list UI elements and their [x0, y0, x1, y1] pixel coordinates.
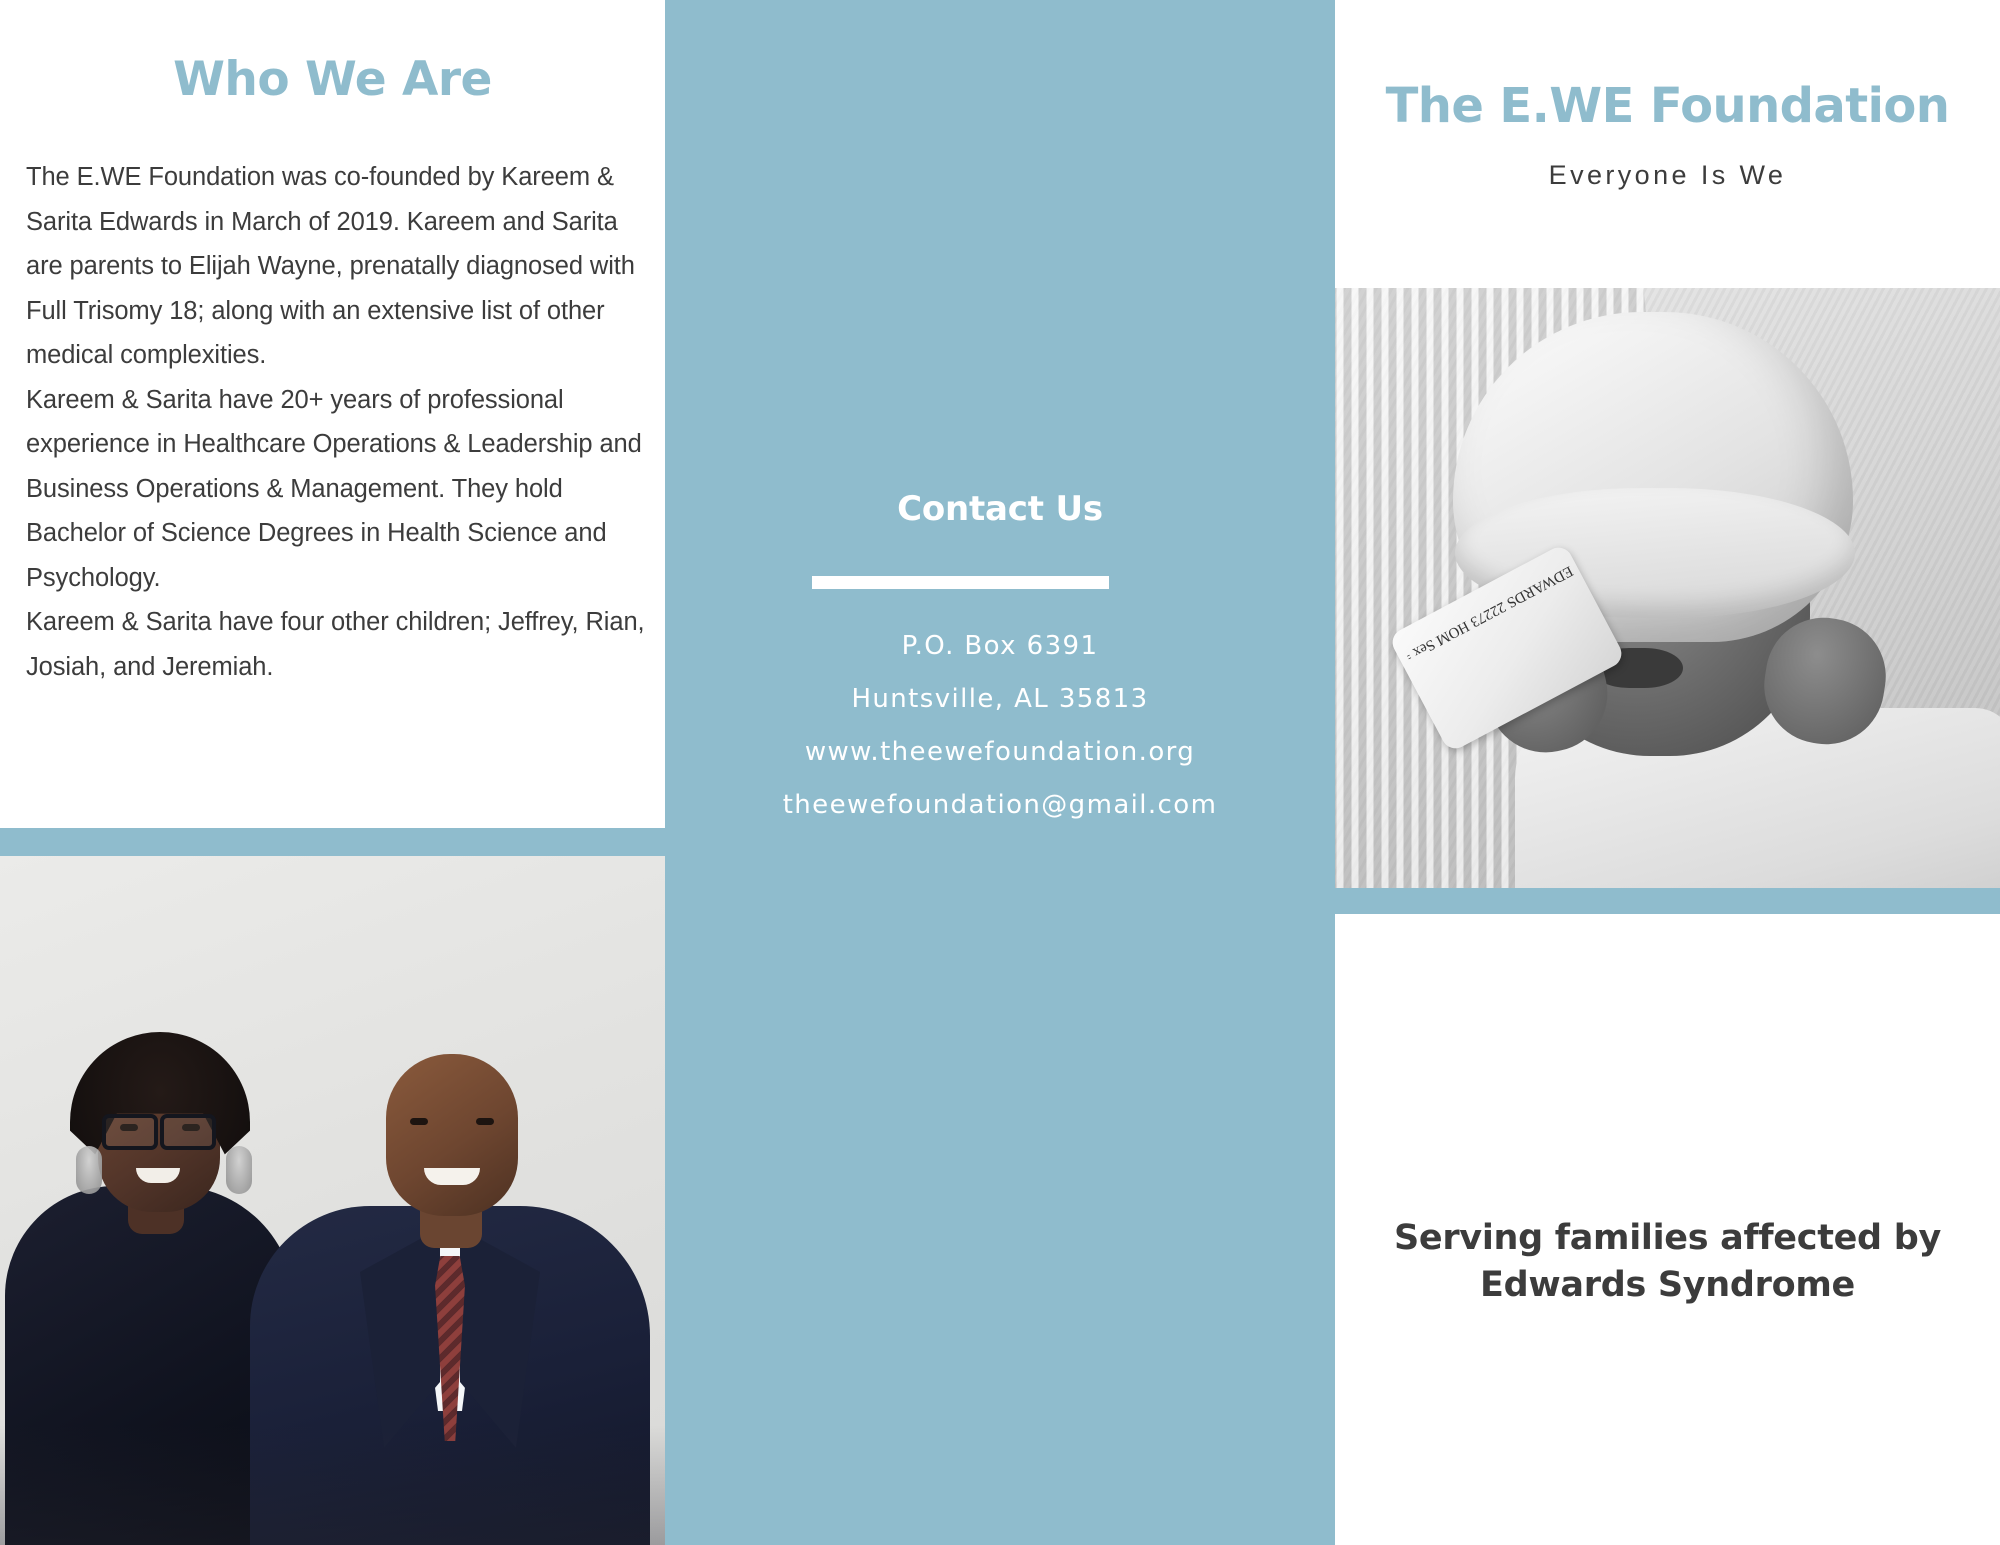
right-panel-accent-band [1335, 888, 2000, 914]
serving-tagline: Serving families affected by Edwards Syn… [1365, 1215, 1970, 1309]
kareem-smile [424, 1168, 480, 1185]
serving-line-1: Serving families affected by [1365, 1215, 1970, 1262]
founders-photo [0, 856, 665, 1545]
earring-right [226, 1146, 252, 1194]
contact-city: Huntsville, AL 35813 [665, 673, 1335, 726]
left-panel-accent-band [0, 828, 665, 856]
earring-left [76, 1146, 102, 1194]
contact-divider [812, 576, 1109, 589]
baby-photo: EDWARDS 22273 HOM Sex = F MRN = 0014 [1335, 288, 2000, 888]
contact-us-heading: Contact Us [665, 489, 1335, 529]
glasses-icon [100, 1114, 218, 1144]
contact-po-box: P.O. Box 6391 [665, 620, 1335, 673]
photo-vignette [0, 1425, 665, 1545]
who-paragraph-2: Kareem & Sarita have 20+ years of profes… [26, 378, 646, 601]
kareem-eye-right [476, 1118, 494, 1125]
left-panel: Who We Are The E.WE Foundation was co-fo… [0, 0, 665, 1545]
brochure-page: Who We Are The E.WE Foundation was co-fo… [0, 0, 2000, 1545]
kareem-face [386, 1054, 518, 1216]
who-paragraph-1: The E.WE Foundation was co-founded by Ka… [26, 155, 646, 378]
right-panel: The E.WE Foundation Everyone Is We EDWAR… [1335, 0, 2000, 1545]
contact-details: P.O. Box 6391 Huntsville, AL 35813 www.t… [665, 620, 1335, 832]
who-we-are-heading: Who We Are [0, 52, 665, 107]
foundation-tagline: Everyone Is We [1335, 160, 2000, 191]
kareem-eye-left [410, 1118, 428, 1125]
contact-website[interactable]: www.theewefoundation.org [665, 726, 1335, 779]
who-we-are-body: The E.WE Foundation was co-founded by Ka… [26, 155, 646, 689]
foundation-title: The E.WE Foundation [1335, 78, 2000, 134]
serving-line-2: Edwards Syndrome [1365, 1262, 1970, 1309]
contact-email[interactable]: theewefoundation@gmail.com [665, 779, 1335, 832]
who-paragraph-3: Kareem & Sarita have four other children… [26, 600, 646, 689]
